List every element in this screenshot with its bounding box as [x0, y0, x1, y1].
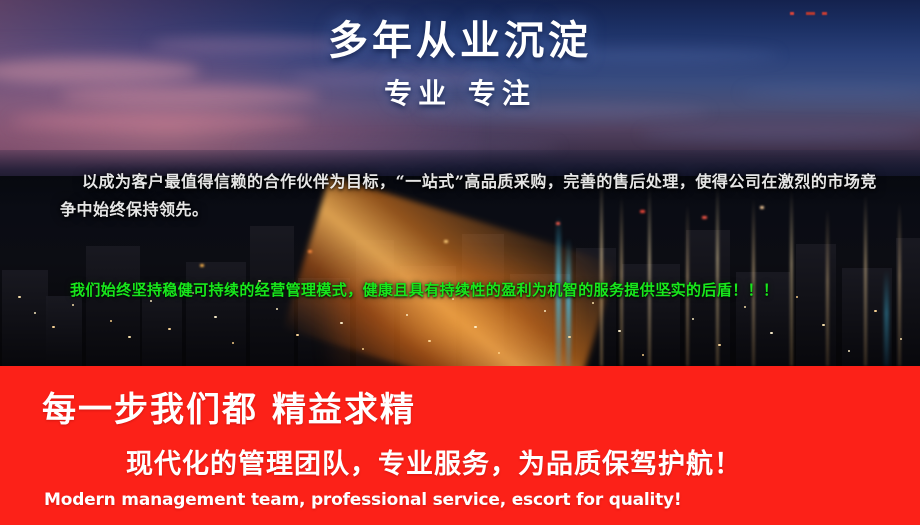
hero-photo: 多年从业沉淀 专业 专注 以成为客户最值得信赖的合作伙伴为目标，“一站式”高品质…: [0, 0, 920, 366]
footer-headline: 每一步我们都 精益求精: [42, 382, 416, 431]
footer-subheadline: 现代化的管理团队，专业服务，为品质保驾护航！: [126, 442, 742, 481]
page-title: 多年从业沉淀: [0, 8, 920, 66]
page-subtitle: 专业 专注: [0, 72, 920, 112]
footer-banner: 每一步我们都 精益求精 现代化的管理团队，专业服务，为品质保驾护航！ Moder…: [0, 366, 920, 525]
promo-banner: 多年从业沉淀 专业 专注 以成为客户最值得信赖的合作伙伴为目标，“一站式”高品质…: [0, 0, 920, 525]
hero-paragraph: 以成为客户最值得信赖的合作伙伴为目标，“一站式”高品质采购，完善的售后处理，使得…: [60, 168, 890, 224]
hero-highlight-paragraph: 我们始终坚持稳健可持续的经营管理模式，健康且具有持续性的盈利为机智的服务提供坚实…: [28, 276, 900, 304]
footer-english-tagline: Modern management team, professional ser…: [44, 490, 681, 510]
